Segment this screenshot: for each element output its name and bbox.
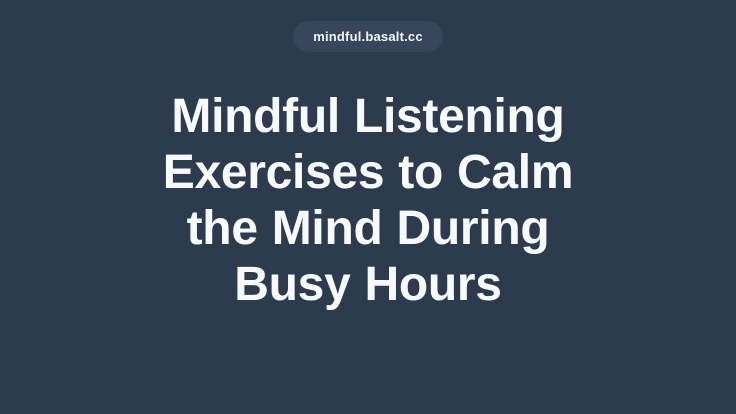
domain-badge: mindful.basalt.cc — [293, 21, 443, 52]
domain-badge-label: mindful.basalt.cc — [313, 30, 423, 43]
headline-container: Mindful Listening Exercises to Calm the … — [133, 89, 603, 313]
page-title: Mindful Listening Exercises to Calm the … — [133, 89, 603, 313]
social-share-card: mindful.basalt.cc Mindful Listening Exer… — [0, 0, 736, 414]
